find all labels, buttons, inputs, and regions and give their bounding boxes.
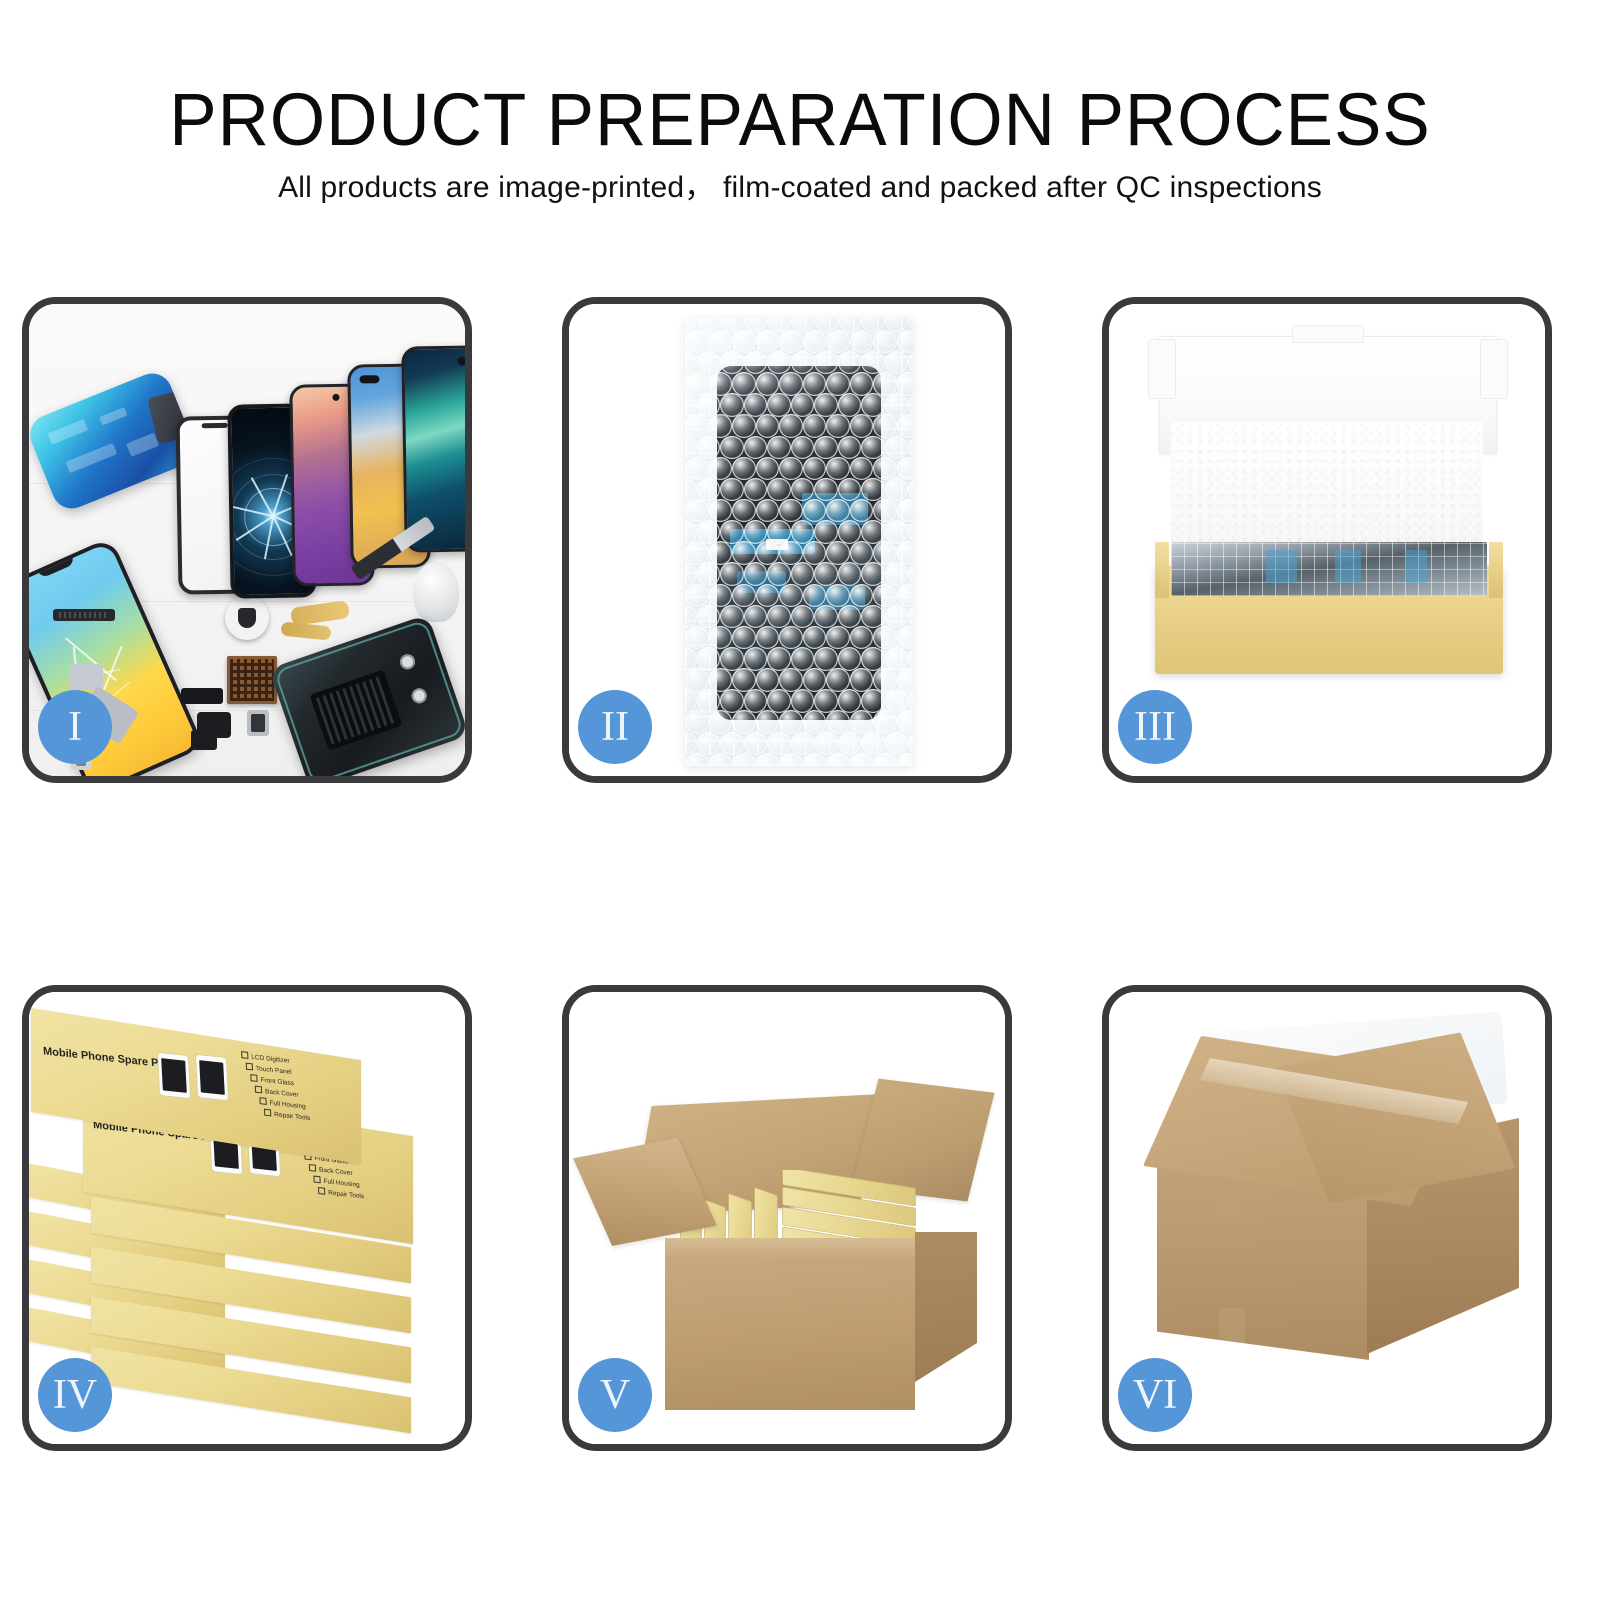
bubble-cell bbox=[767, 647, 791, 671]
bubble-cell bbox=[873, 541, 897, 565]
bubble-cell bbox=[791, 351, 815, 375]
bubble-cell bbox=[908, 605, 913, 629]
step-panel-3[interactable]: III bbox=[1102, 297, 1552, 783]
bubble-cell bbox=[803, 330, 827, 354]
bubble-cell bbox=[873, 710, 897, 734]
bubble-cell bbox=[744, 647, 768, 671]
bubble-cell bbox=[779, 710, 803, 734]
bubble-cell bbox=[732, 626, 756, 650]
bubble-cell bbox=[756, 457, 780, 481]
bubble-cell bbox=[791, 647, 815, 671]
bubble-cell bbox=[756, 668, 780, 692]
bubble-cell bbox=[744, 520, 768, 544]
bubble-cell bbox=[873, 584, 897, 608]
bubble-cell bbox=[697, 436, 721, 460]
bubble-cell bbox=[850, 330, 874, 354]
bubble-cell bbox=[908, 393, 913, 417]
bubble-cell bbox=[767, 478, 791, 502]
bubble-cell bbox=[732, 330, 756, 354]
bubble-cell bbox=[826, 753, 850, 766]
bubble-cell bbox=[908, 478, 913, 502]
bubble-cell bbox=[885, 351, 909, 375]
bubble-cell bbox=[732, 541, 756, 565]
bubble-cell bbox=[791, 562, 815, 586]
bubble-cell bbox=[861, 562, 885, 586]
bubble-cell bbox=[744, 436, 768, 460]
bubble-cell bbox=[814, 562, 838, 586]
bubble-cell bbox=[826, 499, 850, 523]
yellow-mailer-base bbox=[1155, 566, 1503, 674]
bubble-cell bbox=[720, 562, 744, 586]
bubble-cell bbox=[709, 457, 733, 481]
bubble-cell bbox=[826, 414, 850, 438]
bubble-cell bbox=[897, 584, 914, 608]
bubble-cell bbox=[850, 372, 874, 396]
bubble-cell bbox=[697, 520, 721, 544]
bubble-cell bbox=[709, 414, 733, 438]
step-panel-1[interactable]: I bbox=[22, 297, 472, 783]
bubble-cell bbox=[744, 393, 768, 417]
bubble-cell bbox=[885, 605, 909, 629]
bubble-cell bbox=[685, 710, 709, 734]
bubble-cell bbox=[685, 562, 697, 586]
cotton-swab-part bbox=[413, 562, 459, 622]
bubble-cell bbox=[897, 541, 914, 565]
bubble-cell bbox=[756, 330, 780, 354]
bubble-cell bbox=[697, 562, 721, 586]
bubble-cell bbox=[732, 414, 756, 438]
step-badge-2: II bbox=[578, 690, 652, 764]
bubble-cell bbox=[685, 626, 709, 650]
bubble-cell bbox=[744, 562, 768, 586]
bubble-cell bbox=[720, 689, 744, 713]
bubble-cell bbox=[791, 520, 815, 544]
bubble-cell bbox=[779, 584, 803, 608]
bubble-cell bbox=[826, 330, 850, 354]
step-badge-4: IV bbox=[38, 1358, 112, 1432]
bubble-cell bbox=[791, 478, 815, 502]
bubble-cell bbox=[767, 351, 791, 375]
bubble-cell bbox=[861, 520, 885, 544]
teal-display-part bbox=[401, 345, 465, 552]
bubble-cell bbox=[814, 689, 838, 713]
bubble-cell bbox=[732, 710, 756, 734]
bubble-cell bbox=[720, 520, 744, 544]
bubble-cell bbox=[897, 753, 914, 766]
bubble-cell bbox=[779, 499, 803, 523]
bubble-cell bbox=[767, 520, 791, 544]
bubble-cell bbox=[720, 478, 744, 502]
speaker-module-part bbox=[53, 609, 115, 621]
bubble-cell bbox=[908, 562, 913, 586]
bubble-cell bbox=[720, 732, 744, 756]
bubble-cell bbox=[720, 605, 744, 629]
bubble-cell bbox=[814, 605, 838, 629]
bubble-cell bbox=[838, 393, 862, 417]
bubble-cell bbox=[709, 541, 733, 565]
bubble-cell bbox=[685, 351, 697, 375]
bubble-cell bbox=[697, 605, 721, 629]
bubble-cell bbox=[709, 499, 733, 523]
bubble-cell bbox=[861, 689, 885, 713]
bubble-cell bbox=[826, 372, 850, 396]
bubble-cell bbox=[885, 689, 909, 713]
bubble-cell bbox=[767, 732, 791, 756]
bubble-cell bbox=[908, 520, 913, 544]
bubble-cell bbox=[685, 414, 709, 438]
bubble-cell bbox=[709, 668, 733, 692]
bubble-cell bbox=[779, 372, 803, 396]
bubble-cell bbox=[803, 710, 827, 734]
bubble-cell bbox=[908, 732, 913, 756]
bubble-cell bbox=[720, 393, 744, 417]
bubble-cell bbox=[685, 330, 709, 354]
bubble-cell bbox=[908, 689, 913, 713]
bubble-cell bbox=[850, 499, 874, 523]
bubble-cell bbox=[685, 668, 709, 692]
bubble-cell bbox=[803, 541, 827, 565]
bubble-cell bbox=[803, 372, 827, 396]
bubble-cell bbox=[850, 668, 874, 692]
camera-module-part bbox=[197, 712, 231, 738]
carton-front-panel bbox=[665, 1260, 915, 1410]
bubble-cell bbox=[873, 372, 897, 396]
bubble-cell bbox=[873, 457, 897, 481]
bubble-cell bbox=[779, 541, 803, 565]
bubble-cell bbox=[897, 457, 914, 481]
bubble-cell bbox=[873, 753, 897, 766]
bubble-cell bbox=[814, 520, 838, 544]
bubble-cell bbox=[791, 732, 815, 756]
bubble-cell bbox=[685, 689, 697, 713]
bubble-cell bbox=[744, 351, 768, 375]
bubble-cell bbox=[814, 351, 838, 375]
bubble-cell bbox=[756, 372, 780, 396]
bubble-cell bbox=[803, 457, 827, 481]
bubble-wrap-bag bbox=[685, 318, 913, 766]
bubble-cell bbox=[791, 436, 815, 460]
bubble-cell bbox=[791, 605, 815, 629]
bubble-cell bbox=[685, 584, 709, 608]
taptic-engine-part bbox=[225, 596, 269, 640]
step-panel-6[interactable]: VI bbox=[1102, 985, 1552, 1451]
bubble-cell bbox=[838, 605, 862, 629]
process-steps-grid: I II bbox=[0, 0, 1600, 1600]
bubble-cell bbox=[720, 351, 744, 375]
bubble-cell bbox=[861, 351, 885, 375]
bubble-cell bbox=[697, 647, 721, 671]
bubble-cell bbox=[885, 393, 909, 417]
step-badge-3: III bbox=[1118, 690, 1192, 764]
bubble-cell bbox=[732, 457, 756, 481]
bubble-cell bbox=[709, 584, 733, 608]
bubble-cell bbox=[838, 689, 862, 713]
step-panel-5[interactable]: V bbox=[562, 985, 1012, 1451]
bubble-cell bbox=[908, 351, 913, 375]
step-panel-4[interactable]: Mobile Phone Spare Parts LCD Digitizer T… bbox=[22, 985, 472, 1451]
bubble-cell bbox=[803, 626, 827, 650]
bubble-cell bbox=[697, 478, 721, 502]
bubble-cell bbox=[861, 605, 885, 629]
bubble-cell bbox=[814, 478, 838, 502]
bubble-cell bbox=[814, 647, 838, 671]
bubble-cell bbox=[732, 753, 756, 766]
bubble-cell bbox=[756, 414, 780, 438]
bubble-cell bbox=[803, 668, 827, 692]
step-badge-5: V bbox=[578, 1358, 652, 1432]
bubble-cell bbox=[744, 689, 768, 713]
bubble-cell bbox=[850, 710, 874, 734]
step-badge-6: VI bbox=[1118, 1358, 1192, 1432]
bubble-cell bbox=[685, 647, 697, 671]
bubble-cell bbox=[756, 584, 780, 608]
bubble-cell bbox=[756, 499, 780, 523]
bubble-cells bbox=[685, 318, 913, 766]
bubble-cell bbox=[685, 499, 709, 523]
bubble-cell bbox=[908, 436, 913, 460]
bubble-cell bbox=[826, 584, 850, 608]
bubble-cell bbox=[838, 520, 862, 544]
bubble-cell bbox=[897, 626, 914, 650]
bubble-cell bbox=[873, 414, 897, 438]
bubble-cell bbox=[897, 499, 914, 523]
bubble-cell bbox=[732, 372, 756, 396]
bubble-cell bbox=[791, 689, 815, 713]
bubble-cell bbox=[685, 436, 697, 460]
bubble-cell bbox=[744, 732, 768, 756]
bubble-cell bbox=[685, 457, 709, 481]
bubble-cell bbox=[697, 351, 721, 375]
bubble-cell bbox=[709, 626, 733, 650]
bubble-cell bbox=[685, 372, 709, 396]
bubble-cell bbox=[732, 584, 756, 608]
bubble-cell bbox=[744, 478, 768, 502]
bubble-cell bbox=[732, 668, 756, 692]
bubble-cell bbox=[897, 330, 914, 354]
bubble-cell bbox=[826, 668, 850, 692]
bubble-cell bbox=[709, 372, 733, 396]
bubble-cell bbox=[838, 351, 862, 375]
bubble-cell bbox=[779, 668, 803, 692]
bubble-cell bbox=[885, 520, 909, 544]
bubble-cell bbox=[861, 478, 885, 502]
bubble-cell bbox=[779, 753, 803, 766]
bubble-cell bbox=[873, 626, 897, 650]
bubble-cell bbox=[803, 414, 827, 438]
bubble-cell bbox=[685, 732, 697, 756]
bubble-cell bbox=[838, 478, 862, 502]
bubble-cell bbox=[861, 393, 885, 417]
bubble-cell bbox=[850, 414, 874, 438]
receiver-part bbox=[247, 710, 269, 736]
bubble-cell bbox=[861, 647, 885, 671]
bubble-cell bbox=[685, 393, 697, 417]
bubble-cell bbox=[885, 562, 909, 586]
bubble-cell bbox=[779, 330, 803, 354]
bubble-cell bbox=[756, 541, 780, 565]
bubble-cell bbox=[885, 732, 909, 756]
bubble-cell bbox=[873, 668, 897, 692]
bubble-cell bbox=[897, 710, 914, 734]
bubble-cell bbox=[850, 541, 874, 565]
bubble-cell bbox=[897, 668, 914, 692]
bubble-cell bbox=[861, 436, 885, 460]
step-panel-2[interactable]: II bbox=[562, 297, 1012, 783]
bubble-cell bbox=[885, 436, 909, 460]
bubble-cell bbox=[779, 457, 803, 481]
bubble-cell bbox=[709, 330, 733, 354]
logic-board-chip-part bbox=[227, 656, 277, 704]
bubble-cell bbox=[873, 330, 897, 354]
bubble-cell bbox=[826, 457, 850, 481]
bubble-cell bbox=[779, 414, 803, 438]
bubble-cell bbox=[850, 626, 874, 650]
bubble-cell bbox=[885, 478, 909, 502]
bubble-cell bbox=[850, 457, 874, 481]
bubble-cell bbox=[826, 710, 850, 734]
bubble-cell bbox=[685, 605, 697, 629]
bubble-cell bbox=[908, 647, 913, 671]
bubble-cell bbox=[814, 732, 838, 756]
bubble-cell bbox=[685, 478, 697, 502]
bubble-cell bbox=[767, 562, 791, 586]
bubble-cell bbox=[850, 584, 874, 608]
bubble-cell bbox=[756, 710, 780, 734]
bubble-cell bbox=[826, 626, 850, 650]
bubble-cell bbox=[720, 436, 744, 460]
bubble-cell bbox=[685, 520, 697, 544]
bubble-cell bbox=[767, 689, 791, 713]
bubble-wrapped-product-in-box bbox=[1171, 542, 1487, 596]
bubble-cell bbox=[838, 436, 862, 460]
bubble-cell bbox=[697, 393, 721, 417]
bubble-cell bbox=[697, 732, 721, 756]
bubble-cell bbox=[814, 436, 838, 460]
step-badge-1: I bbox=[38, 690, 112, 764]
bubble-cell bbox=[791, 393, 815, 417]
bubble-cell bbox=[838, 562, 862, 586]
bubble-cell bbox=[897, 372, 914, 396]
bubble-cell bbox=[767, 605, 791, 629]
bubble-cell bbox=[803, 584, 827, 608]
bubble-cell bbox=[838, 647, 862, 671]
bubble-cell bbox=[767, 393, 791, 417]
bubble-cell bbox=[885, 647, 909, 671]
bubble-cell bbox=[697, 689, 721, 713]
black-chip-part bbox=[181, 688, 223, 704]
bubble-cell bbox=[814, 393, 838, 417]
bubble-cell bbox=[720, 647, 744, 671]
bubble-cell bbox=[779, 626, 803, 650]
bubble-cell bbox=[744, 605, 768, 629]
bubble-cell bbox=[709, 710, 733, 734]
bubble-cell bbox=[861, 732, 885, 756]
bubble-cell bbox=[826, 541, 850, 565]
bubble-cell bbox=[732, 499, 756, 523]
bubble-cell bbox=[838, 732, 862, 756]
bubble-cell bbox=[767, 436, 791, 460]
bubble-cell bbox=[685, 753, 709, 766]
bubble-cell bbox=[756, 626, 780, 650]
bubble-cell bbox=[685, 541, 709, 565]
bubble-cell bbox=[803, 499, 827, 523]
bubble-cell bbox=[897, 414, 914, 438]
bubble-cell bbox=[873, 499, 897, 523]
